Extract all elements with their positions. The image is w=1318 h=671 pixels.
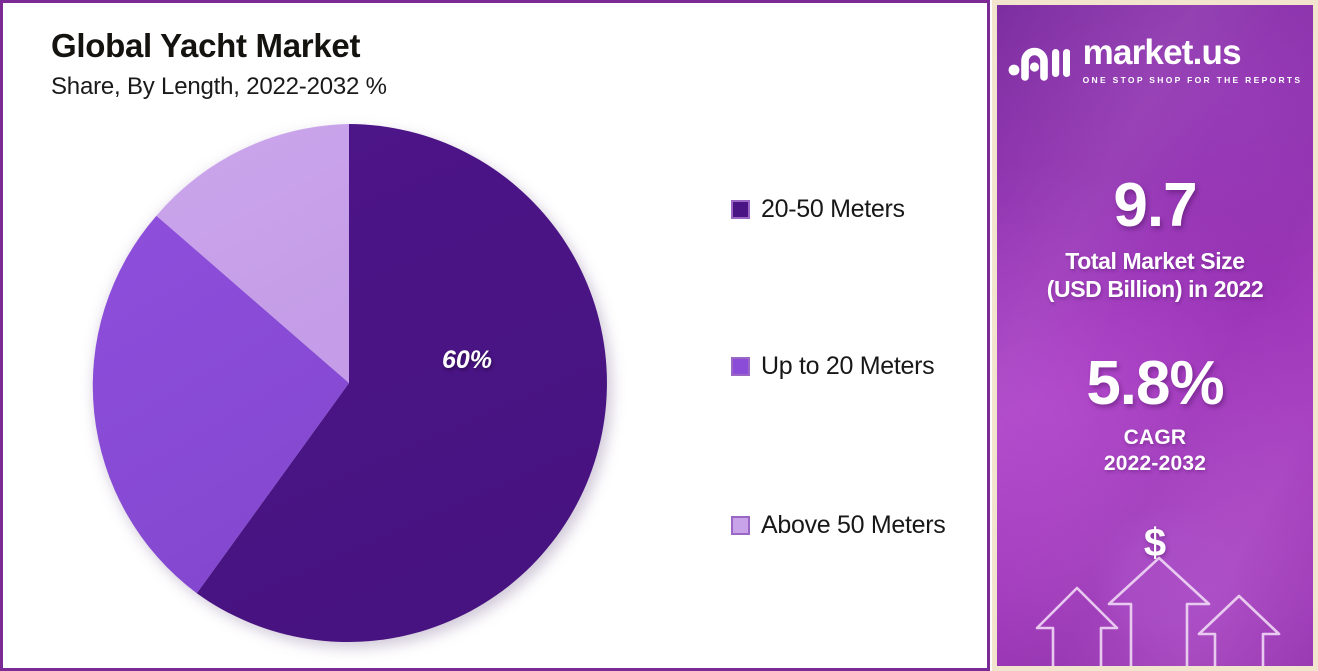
logo-text: market.us ONE STOP SHOP FOR THE REPORTS <box>1083 35 1303 85</box>
stat-caption: Total Market Size (USD Billion) in 2022 <box>997 247 1313 303</box>
pie-chart-svg <box>90 124 608 642</box>
legend-item-label: 20-50 Meters <box>761 195 905 224</box>
legend-item-above-50-meters[interactable]: Above 50 Meters <box>731 511 946 540</box>
legend-swatch-icon <box>731 200 750 219</box>
stat-caption: CAGR 2022-2032 <box>997 425 1313 476</box>
pie-chart: 60% <box>90 124 608 642</box>
legend-item-up-to-20-meters[interactable]: Up to 20 Meters <box>731 352 934 381</box>
arrow-center-icon <box>1109 558 1209 666</box>
stat-caption-line-1: Total Market Size <box>997 247 1313 275</box>
legend-item-label: Above 50 Meters <box>761 511 946 540</box>
stat-caption-line-2: 2022-2032 <box>997 451 1313 477</box>
stat-caption-line-2: (USD Billion) in 2022 <box>997 275 1313 303</box>
stat-caption-line-1: CAGR <box>997 425 1313 451</box>
market-us-logo-icon <box>1008 37 1070 83</box>
logo-wordmark: market.us <box>1083 35 1241 70</box>
brand-panel: market.us ONE STOP SHOP FOR THE REPORTS … <box>992 0 1318 671</box>
brand-logo[interactable]: market.us ONE STOP SHOP FOR THE REPORTS <box>997 35 1313 85</box>
growth-arrows-icon <box>1035 556 1283 666</box>
arrow-left-icon <box>1037 588 1117 666</box>
stat-value: 9.7 <box>997 175 1313 237</box>
infographic-root: Global Yacht Market Share, By Length, 20… <box>0 0 1318 671</box>
arrow-right-icon <box>1199 596 1279 666</box>
logo-tagline: ONE STOP SHOP FOR THE REPORTS <box>1083 75 1303 85</box>
pie-slice-value-label: 60% <box>442 346 492 375</box>
stat-value: 5.8% <box>997 353 1313 415</box>
page-title: Global Yacht Market <box>51 27 360 65</box>
stat-cagr: 5.8% CAGR 2022-2032 <box>997 353 1313 476</box>
legend-item-20-50-meters[interactable]: 20-50 Meters <box>731 195 905 224</box>
stat-total-market-size: 9.7 Total Market Size (USD Billion) in 2… <box>997 175 1313 303</box>
chart-panel: Global Yacht Market Share, By Length, 20… <box>0 0 990 671</box>
legend-swatch-icon <box>731 516 750 535</box>
legend-item-label: Up to 20 Meters <box>761 352 934 381</box>
legend-swatch-icon <box>731 357 750 376</box>
page-subtitle: Share, By Length, 2022-2032 % <box>51 73 387 101</box>
